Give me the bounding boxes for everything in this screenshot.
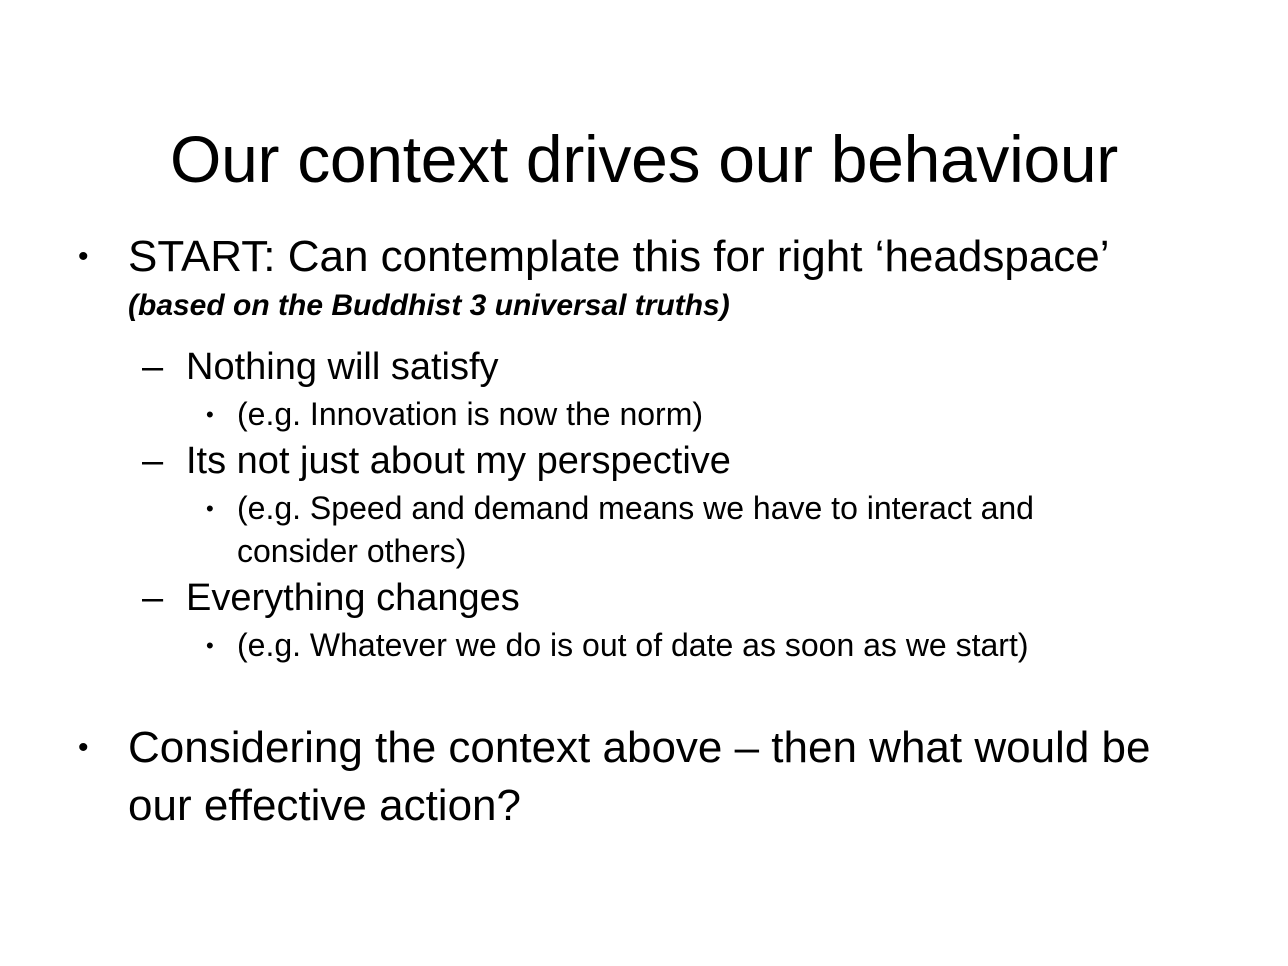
bullet-closing-question: • Considering the context above – then w…: [0, 719, 1288, 835]
spacer-after-intro: [0, 326, 1288, 342]
bullet-dot-icon: •: [206, 487, 214, 530]
bullet-intro-note: (based on the Buddhist 3 universal truth…: [0, 286, 1288, 326]
bullet-intro: • START: Can contemplate this for right …: [0, 228, 1288, 286]
bullet-truth-2: – Its not just about my perspective: [0, 436, 1288, 487]
bullet-truth-1-example: • (e.g. Innovation is now the norm): [0, 393, 1288, 436]
bullet-truth-1-example-label: (e.g. Innovation is now the norm): [237, 393, 1138, 436]
bullet-truth-3-example-label: (e.g. Whatever we do is out of date as s…: [237, 624, 1138, 667]
bullet-truth-3-example: • (e.g. Whatever we do is out of date as…: [0, 624, 1288, 667]
bullet-dash-icon: –: [142, 342, 163, 393]
bullet-truth-2-label: Its not just about my perspective: [186, 436, 1218, 487]
bullet-truth-3: – Everything changes: [0, 573, 1288, 624]
bullet-truth-1: – Nothing will satisfy: [0, 342, 1288, 393]
spacer-before-closing: [0, 667, 1288, 719]
slide-title: Our context drives our behaviour: [0, 120, 1288, 198]
bullet-dash-icon: –: [142, 573, 163, 624]
bullet-dot-icon: •: [78, 228, 89, 286]
bullet-intro-label: START: Can contemplate this for right ‘h…: [128, 228, 1218, 286]
bullet-truth-3-label: Everything changes: [186, 573, 1218, 624]
bullet-dot-icon: •: [78, 719, 89, 777]
bullet-closing-question-label: Considering the context above – then wha…: [128, 719, 1218, 835]
bullet-dot-icon: •: [206, 624, 214, 667]
bullet-truth-1-label: Nothing will satisfy: [186, 342, 1218, 393]
bullet-intro-note-label: (based on the Buddhist 3 universal truth…: [128, 286, 1218, 326]
bullet-truth-2-example: • (e.g. Speed and demand means we have t…: [0, 487, 1288, 573]
bullet-dash-icon: –: [142, 436, 163, 487]
slide-body: • START: Can contemplate this for right …: [0, 228, 1288, 835]
bullet-dot-icon: •: [206, 393, 214, 436]
presentation-slide: Our context drives our behaviour • START…: [0, 0, 1288, 966]
bullet-truth-2-example-label: (e.g. Speed and demand means we have to …: [237, 487, 1138, 573]
